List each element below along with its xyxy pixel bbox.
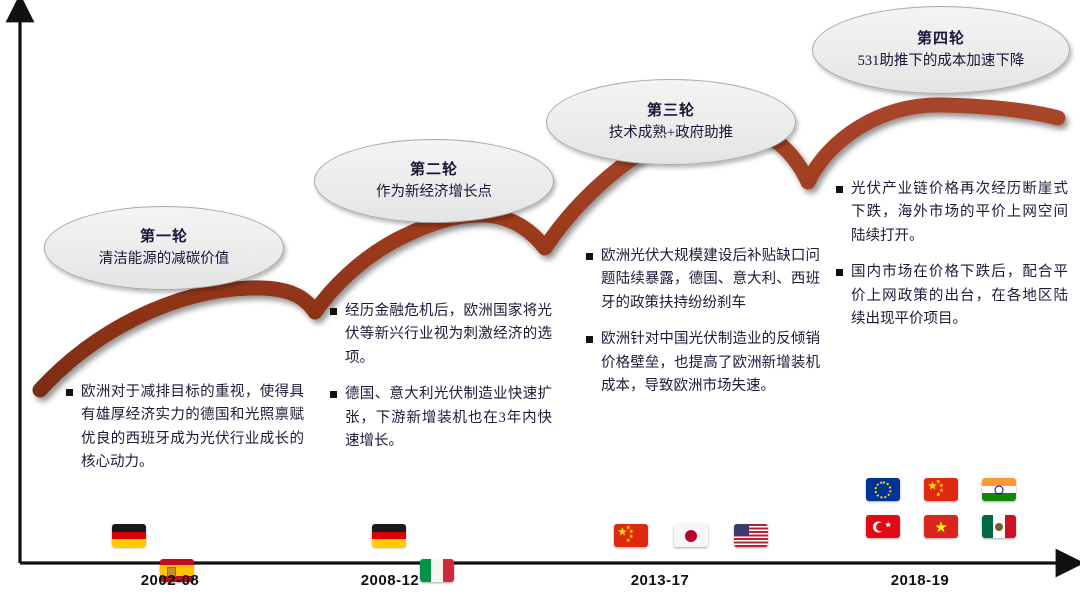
list-item: 光伏产业链价格再次经历断崖式下跌，海外市场的平价上网空间陆续打开。 — [836, 178, 1068, 248]
list-item: 欧洲对于减排目标的重视，使得具有雄厚经济实力的德国和光照禀赋优良的西班牙成为光伏… — [66, 381, 304, 475]
stage-bullets-round-1: 欧洲对于减排目标的重视，使得具有雄厚经济实力的德国和光照禀赋优良的西班牙成为光伏… — [66, 381, 304, 475]
axis-tick-label-1: 2008-12 — [330, 572, 450, 589]
flag-group-round-3: ★ ★ ★ ★ ★ — [614, 524, 800, 547]
vietnam-flag: ★ — [924, 515, 958, 538]
list-item: 欧洲针对中国光伏制造业的反倾销价格壁垒，也提高了欧洲新增装机成本，导致欧洲市场失… — [586, 328, 820, 398]
stage-title: 第三轮 — [647, 102, 695, 121]
stage-subtitle: 技术成熟+政府助推 — [609, 124, 733, 142]
axis-tick-label-3: 2018-19 — [860, 572, 980, 589]
china-flag: ★ ★ ★ ★ ★ — [924, 478, 958, 501]
stage-title: 第四轮 — [917, 30, 965, 49]
japan-flag — [674, 524, 708, 547]
mexico-flag — [982, 515, 1016, 538]
stage-title: 第二轮 — [410, 161, 458, 180]
germany-flag — [372, 524, 406, 547]
germany-flag — [112, 524, 146, 547]
bullet-text: 欧洲光伏大规模建设后补贴缺口问题陆续暴露，德国、意大利、西班牙的政策扶持纷纷刹车 — [601, 245, 820, 315]
bullet-text: 经历金融危机后，欧洲国家将光伏等新兴行业视为刺激经济的选项。 — [345, 300, 552, 370]
square-bullet-icon — [836, 186, 843, 193]
list-item: 欧洲光伏大规模建设后补贴缺口问题陆续暴露，德国、意大利、西班牙的政策扶持纷纷刹车 — [586, 245, 820, 315]
usa-flag — [734, 524, 768, 547]
india-flag — [982, 478, 1016, 501]
stage-ellipse-round-3[interactable]: 第三轮 技术成熟+政府助推 — [546, 79, 796, 165]
stage-title: 第一轮 — [140, 228, 188, 247]
square-bullet-icon — [586, 336, 593, 343]
list-item: 国内市场在价格下跌后，配合平价上网政策的出台，在各地区陆续出现平价项目。 — [836, 261, 1068, 331]
square-bullet-icon — [836, 269, 843, 276]
eu-flag — [866, 478, 900, 501]
bullet-text: 光伏产业链价格再次经历断崖式下跌，海外市场的平价上网空间陆续打开。 — [851, 178, 1068, 248]
stage-bullets-round-2: 经历金融危机后，欧洲国家将光伏等新兴行业视为刺激经济的选项。 德国、意大利光伏制… — [330, 300, 552, 454]
stage-ellipse-round-4[interactable]: 第四轮 531助推下的成本加速下降 — [812, 6, 1070, 94]
flag-group-round-4: ★ ★ ★ ★ ★ ★ ★ — [866, 478, 1036, 538]
square-bullet-icon — [586, 253, 593, 260]
list-item: 经历金融危机后，欧洲国家将光伏等新兴行业视为刺激经济的选项。 — [330, 300, 552, 370]
axis-tick-label-0: 2002-08 — [110, 572, 230, 589]
stage-bullets-round-4: 光伏产业链价格再次经历断崖式下跌，海外市场的平价上网空间陆续打开。 国内市场在价… — [836, 178, 1068, 332]
diagram-canvas: 第一轮 清洁能源的减碳价值 第二轮 作为新经济增长点 第三轮 技术成熟+政府助推… — [0, 0, 1080, 599]
stage-ellipse-round-2[interactable]: 第二轮 作为新经济增长点 — [314, 139, 554, 223]
square-bullet-icon — [330, 308, 337, 315]
square-bullet-icon — [330, 391, 337, 398]
stage-subtitle: 清洁能源的减碳价值 — [99, 250, 230, 268]
stage-ellipse-round-1[interactable]: 第一轮 清洁能源的减碳价值 — [44, 206, 284, 290]
square-bullet-icon — [66, 389, 73, 396]
list-item: 德国、意大利光伏制造业快速扩张，下游新增装机也在3年内快速增长。 — [330, 383, 552, 453]
bullet-text: 国内市场在价格下跌后，配合平价上网政策的出台，在各地区陆续出现平价项目。 — [851, 261, 1068, 331]
bullet-text: 德国、意大利光伏制造业快速扩张，下游新增装机也在3年内快速增长。 — [345, 383, 552, 453]
stage-subtitle: 作为新经济增长点 — [376, 183, 492, 201]
stage-subtitle: 531助推下的成本加速下降 — [858, 52, 1025, 70]
stage-bullets-round-3: 欧洲光伏大规模建设后补贴缺口问题陆续暴露，德国、意大利、西班牙的政策扶持纷纷刹车… — [586, 245, 820, 399]
bullet-text: 欧洲对于减排目标的重视，使得具有雄厚经济实力的德国和光照禀赋优良的西班牙成为光伏… — [81, 381, 304, 475]
china-flag: ★ ★ ★ ★ ★ — [614, 524, 648, 547]
bullet-text: 欧洲针对中国光伏制造业的反倾销价格壁垒，也提高了欧洲新增装机成本，导致欧洲市场失… — [601, 328, 820, 398]
axis-tick-label-2: 2013-17 — [600, 572, 720, 589]
turkey-flag: ★ — [866, 515, 900, 538]
